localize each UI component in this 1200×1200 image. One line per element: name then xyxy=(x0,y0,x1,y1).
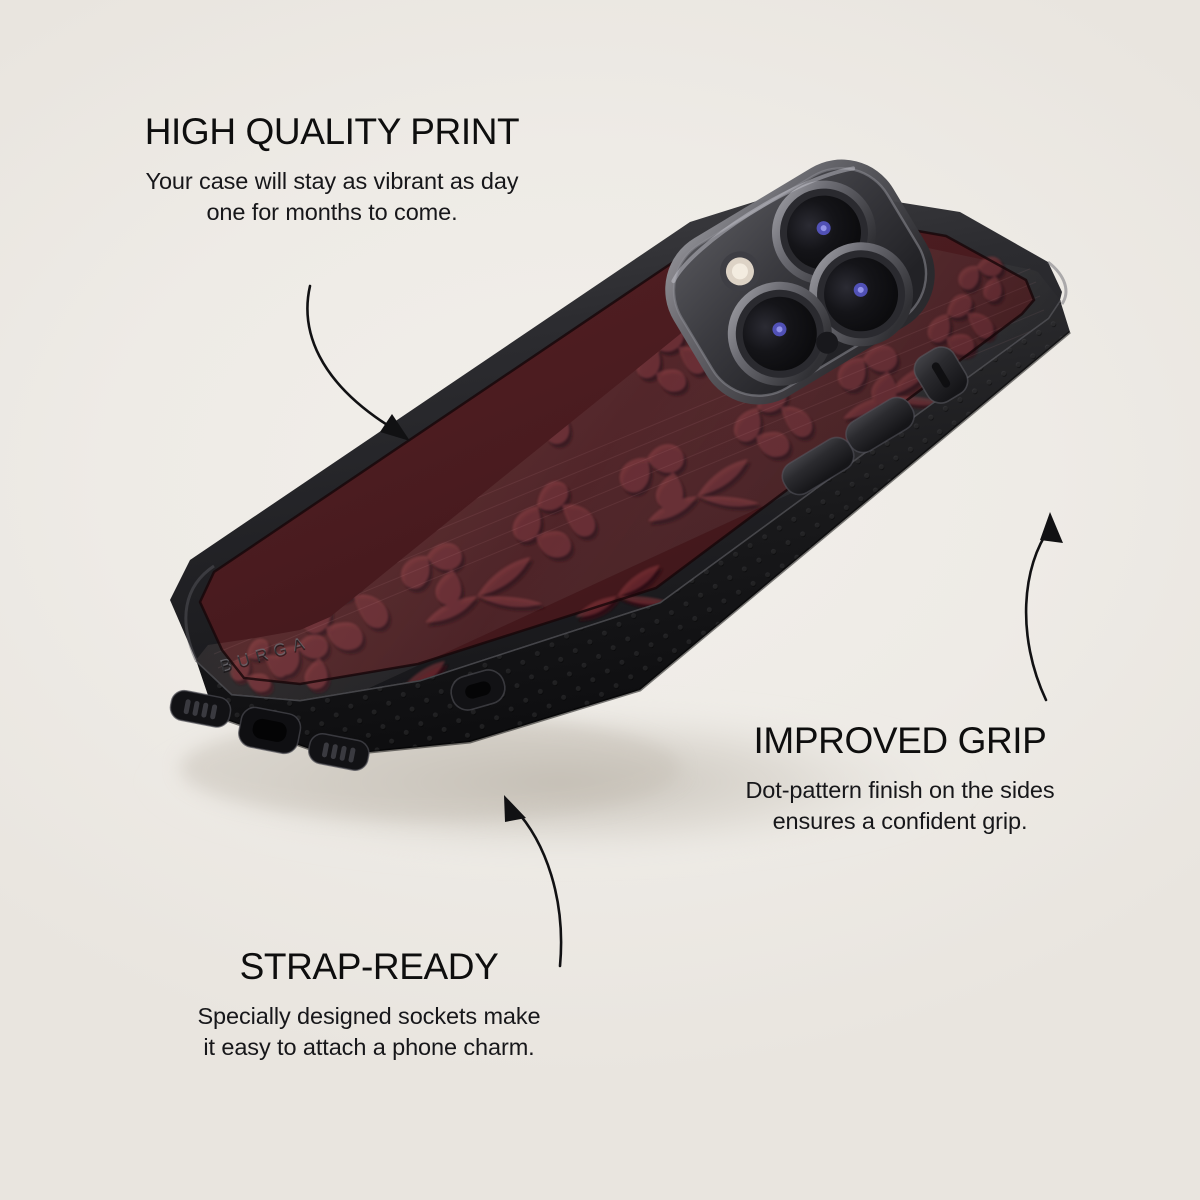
feature-high-quality-print: HIGH QUALITY PRINT Your case will stay a… xyxy=(62,113,602,228)
feature-description: Dot-pattern finish on the sides ensures … xyxy=(660,775,1140,838)
feature-description-line-2: ensures a confident grip. xyxy=(660,806,1140,837)
feature-description-line-2: one for months to come. xyxy=(62,197,602,228)
product-feature-graphic: BURGA BURGA xyxy=(0,0,1200,1200)
feature-strap-ready: STRAP-READY Specially designed sockets m… xyxy=(104,948,634,1063)
feature-description-line-1: Dot-pattern finish on the sides xyxy=(660,775,1140,806)
feature-title: IMPROVED GRIP xyxy=(660,722,1140,761)
feature-description: Your case will stay as vibrant as day on… xyxy=(62,166,602,229)
feature-title: STRAP-READY xyxy=(104,948,634,987)
feature-description-line-2: it easy to attach a phone charm. xyxy=(104,1032,634,1063)
feature-description-line-1: Your case will stay as vibrant as day xyxy=(62,166,602,197)
feature-title: HIGH QUALITY PRINT xyxy=(62,113,602,152)
feature-description-line-1: Specially designed sockets make xyxy=(104,1001,634,1032)
feature-description: Specially designed sockets make it easy … xyxy=(104,1001,634,1064)
feature-improved-grip: IMPROVED GRIP Dot-pattern finish on the … xyxy=(660,722,1140,837)
